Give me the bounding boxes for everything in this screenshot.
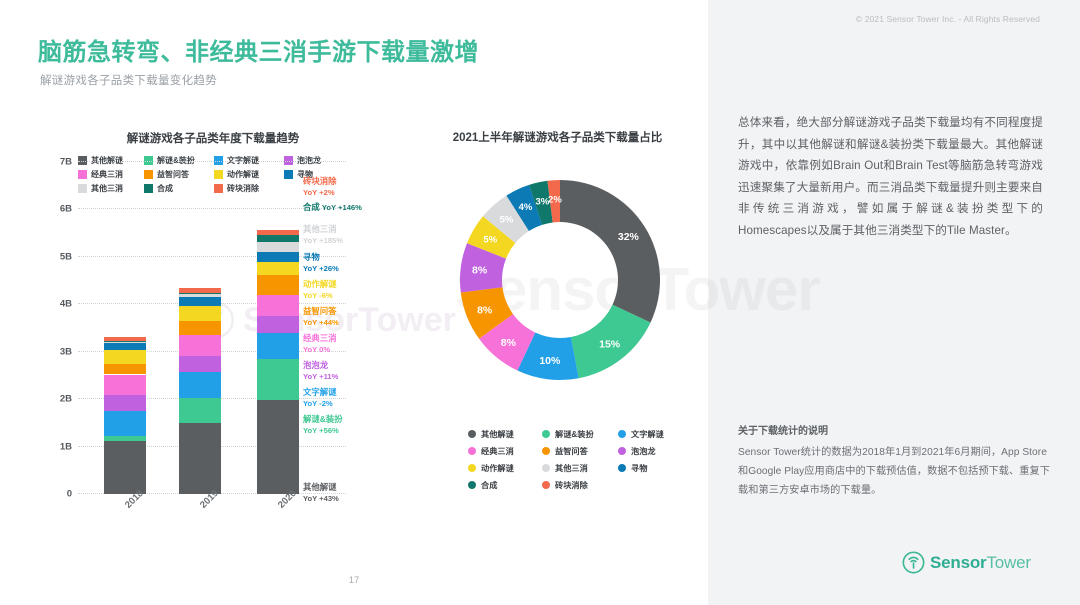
donut-slice[interactable] bbox=[560, 180, 660, 323]
yoy-annotation: 益智问答YoY +44% bbox=[303, 306, 339, 328]
yoy-value: YoY +43% bbox=[303, 494, 339, 505]
bar-segment[interactable] bbox=[257, 262, 299, 275]
y-axis-tick: 3B bbox=[60, 346, 72, 357]
bar-segment[interactable] bbox=[104, 441, 146, 494]
bar-segment[interactable] bbox=[257, 235, 299, 243]
legend-label: 动作解谜 bbox=[481, 462, 514, 474]
page-subtitle: 解谜游戏各子品类下载量变化趋势 bbox=[40, 72, 217, 88]
bar-segment[interactable] bbox=[104, 395, 146, 411]
yoy-annotation: 经典三消YoY 0% bbox=[303, 333, 337, 355]
bar-chart-plot: 01B2B3B4B5B6B7B201820192020砖块消除YoY +2%合成… bbox=[78, 162, 346, 494]
yoy-annotation: 其他三消YoY +185% bbox=[303, 224, 343, 246]
yoy-annotation: 解谜&装扮YoY +56% bbox=[303, 414, 343, 436]
page-title: 脑筋急转弯、非经典三消手游下载量激增 bbox=[38, 32, 479, 67]
bar-segment[interactable] bbox=[179, 398, 221, 423]
bar-segment[interactable] bbox=[104, 375, 146, 396]
legend-label: 解谜&装扮 bbox=[555, 428, 594, 440]
donut-slice-label: 8% bbox=[501, 337, 517, 349]
yoy-series-name: 合成 bbox=[303, 202, 320, 212]
donut-svg: 32%15%10%8%8%8%5%5%4%3%2% bbox=[452, 172, 668, 388]
legend-dot bbox=[468, 481, 476, 489]
legend-dot bbox=[468, 447, 476, 455]
donut-slice-label: 10% bbox=[539, 355, 561, 367]
yoy-series-name: 文字解谜 bbox=[303, 387, 337, 397]
yoy-series-name: 其他解谜 bbox=[303, 482, 337, 492]
legend-dot bbox=[468, 430, 476, 438]
bar-column[interactable]: 2019 bbox=[179, 162, 221, 494]
note-body: Sensor Tower统计的数据为2018年1月到2021年6月期间，App … bbox=[738, 443, 1050, 500]
yoy-annotation: 其他解谜YoY +43% bbox=[303, 482, 339, 504]
bar-segment[interactable] bbox=[257, 252, 299, 262]
bar-column[interactable]: 2018 bbox=[104, 162, 146, 494]
legend-label: 砖块消除 bbox=[555, 479, 588, 491]
bar-segment[interactable] bbox=[104, 337, 146, 341]
bar-segment[interactable] bbox=[104, 411, 146, 436]
yoy-value: YoY +26% bbox=[303, 264, 339, 275]
bar-segment[interactable] bbox=[257, 242, 299, 251]
yoy-annotation: 动作解谜YoY -6% bbox=[303, 279, 337, 301]
sensor-tower-logo-icon bbox=[902, 551, 925, 574]
legend-item[interactable]: 寻物 bbox=[618, 462, 683, 474]
yoy-annotation: 文字解谜YoY -2% bbox=[303, 387, 337, 409]
donut-chart-plot: 32%15%10%8%8%8%5%5%4%3%2% bbox=[452, 172, 668, 388]
yoy-series-name: 经典三消 bbox=[303, 333, 337, 343]
yoy-value: YoY +11% bbox=[303, 372, 338, 383]
bar-segment[interactable] bbox=[179, 356, 221, 372]
legend-label: 其他解谜 bbox=[481, 428, 514, 440]
bar-segment[interactable] bbox=[104, 342, 146, 343]
yoy-series-name: 泡泡龙 bbox=[303, 360, 328, 370]
note-title: 关于下载统计的说明 bbox=[738, 424, 1048, 439]
legend-dot bbox=[468, 464, 476, 472]
yoy-annotation: 寻物YoY +26% bbox=[303, 252, 339, 274]
bar-column[interactable]: 2020 bbox=[257, 162, 299, 494]
legend-dot bbox=[542, 430, 550, 438]
donut-slice-label: 5% bbox=[500, 215, 514, 226]
legend-label: 寻物 bbox=[631, 462, 647, 474]
bar-segment[interactable] bbox=[104, 436, 146, 441]
yoy-series-name: 其他三消 bbox=[303, 224, 337, 234]
yoy-annotation: 泡泡龙YoY +11% bbox=[303, 360, 338, 382]
yoy-series-name: 动作解谜 bbox=[303, 279, 337, 289]
legend-dot bbox=[542, 481, 550, 489]
legend-label: 益智问答 bbox=[555, 445, 588, 457]
legend-item[interactable]: 其他解谜 bbox=[468, 428, 542, 440]
bar-segment[interactable] bbox=[179, 288, 221, 293]
yoy-value: YoY +56% bbox=[303, 426, 343, 437]
donut-slice-label: 5% bbox=[483, 234, 497, 245]
yoy-annotation: 砖块消除YoY +2% bbox=[303, 176, 337, 198]
bar-segment[interactable] bbox=[104, 343, 146, 350]
legend-label: 经典三消 bbox=[481, 445, 514, 457]
yoy-series-name: 寻物 bbox=[303, 252, 320, 262]
bar-segment[interactable] bbox=[104, 350, 146, 364]
legend-dot bbox=[542, 464, 550, 472]
y-axis-tick: 1B bbox=[60, 441, 72, 452]
legend-item[interactable]: 合成 bbox=[468, 479, 542, 491]
y-axis-tick: 7B bbox=[60, 157, 72, 168]
bar-segment[interactable] bbox=[179, 372, 221, 398]
donut-chart-legend: 其他解谜解谜&装扮文字解谜经典三消益智问答泡泡龙动作解谜其他三消寻物合成砖块消除 bbox=[468, 428, 683, 491]
legend-dot bbox=[542, 447, 550, 455]
donut-slice-label: 8% bbox=[472, 264, 488, 276]
legend-dot bbox=[618, 464, 626, 472]
yoy-value: YoY +146% bbox=[320, 203, 362, 212]
yoy-value: YoY +185% bbox=[303, 236, 343, 247]
bar-segment[interactable] bbox=[104, 341, 146, 342]
legend-item[interactable]: 其他三消 bbox=[542, 462, 618, 474]
bar-segment[interactable] bbox=[179, 306, 221, 321]
yoy-series-name: 解谜&装扮 bbox=[303, 414, 343, 424]
bar-segment[interactable] bbox=[257, 316, 299, 333]
legend-item[interactable]: 砖块消除 bbox=[542, 479, 618, 491]
legend-item[interactable]: 动作解谜 bbox=[468, 462, 542, 474]
y-axis-tick: 5B bbox=[60, 251, 72, 262]
bar-segment[interactable] bbox=[257, 275, 299, 295]
legend-item[interactable]: 解谜&装扮 bbox=[542, 428, 618, 440]
donut-slice-label: 15% bbox=[599, 339, 621, 351]
bar-segment[interactable] bbox=[179, 293, 221, 294]
bar-segment[interactable] bbox=[179, 335, 221, 356]
brand-name-light: Tower bbox=[986, 553, 1030, 572]
donut-slice-label: 32% bbox=[618, 231, 640, 243]
bar-segment[interactable] bbox=[257, 333, 299, 359]
bar-segment[interactable] bbox=[179, 321, 221, 335]
bar-segment[interactable] bbox=[257, 359, 299, 400]
legend-item[interactable]: 经典三消 bbox=[468, 445, 542, 457]
insight-paragraph: 总体来看，绝大部分解谜游戏子品类下载量均有不同程度提升，其中以其他解谜和解谜&装… bbox=[738, 112, 1043, 241]
y-axis-tick: 4B bbox=[60, 299, 72, 310]
y-axis-tick: 0 bbox=[67, 489, 72, 500]
bar-segment[interactable] bbox=[257, 230, 299, 235]
bar-segment[interactable] bbox=[257, 295, 299, 316]
yoy-value: YoY 0% bbox=[303, 345, 337, 356]
donut-slice-label: 2% bbox=[548, 195, 562, 206]
page-number: 17 bbox=[0, 575, 708, 586]
legend-label: 文字解谜 bbox=[631, 428, 664, 440]
donut-chart-title: 2021上半年解谜游戏各子品类下载量占比 bbox=[415, 129, 700, 145]
bar-segment[interactable] bbox=[257, 400, 299, 494]
bar-chart-title: 解谜游戏各子品类年度下载量趋势 bbox=[88, 130, 338, 146]
legend-dot bbox=[618, 447, 626, 455]
brand-logo: SensorTower bbox=[902, 551, 1031, 574]
yoy-series-name: 益智问答 bbox=[303, 306, 337, 316]
yoy-value: YoY +44% bbox=[303, 318, 339, 329]
legend-item[interactable]: 益智问答 bbox=[542, 445, 618, 457]
bar-segment[interactable] bbox=[179, 423, 221, 494]
legend-label: 合成 bbox=[481, 479, 497, 491]
bar-segment[interactable] bbox=[104, 364, 146, 374]
y-axis-tick: 2B bbox=[60, 394, 72, 405]
donut-slice-label: 4% bbox=[519, 202, 533, 213]
yoy-value: YoY -6% bbox=[303, 291, 337, 302]
brand-name: SensorTower bbox=[930, 553, 1031, 573]
bar-segment[interactable] bbox=[179, 294, 221, 297]
insight-panel: © 2021 Sensor Tower Inc. - All Rights Re… bbox=[708, 0, 1080, 605]
yoy-annotation: 合成 YoY +146% bbox=[303, 202, 362, 214]
yoy-value: YoY -2% bbox=[303, 399, 337, 410]
legend-label: 泡泡龙 bbox=[631, 445, 656, 457]
yoy-series-name: 砖块消除 bbox=[303, 176, 337, 186]
bar-segment[interactable] bbox=[179, 297, 221, 306]
brand-name-bold: Sensor bbox=[930, 553, 986, 572]
legend-dot bbox=[618, 430, 626, 438]
copyright-notice: © 2021 Sensor Tower Inc. - All Rights Re… bbox=[856, 14, 1040, 24]
legend-item[interactable]: 泡泡龙 bbox=[618, 445, 683, 457]
yoy-value: YoY +2% bbox=[303, 188, 337, 199]
legend-label: 其他三消 bbox=[555, 462, 588, 474]
donut-slice-label: 8% bbox=[477, 304, 493, 316]
y-axis-tick: 6B bbox=[60, 204, 72, 215]
legend-item[interactable]: 文字解谜 bbox=[618, 428, 683, 440]
